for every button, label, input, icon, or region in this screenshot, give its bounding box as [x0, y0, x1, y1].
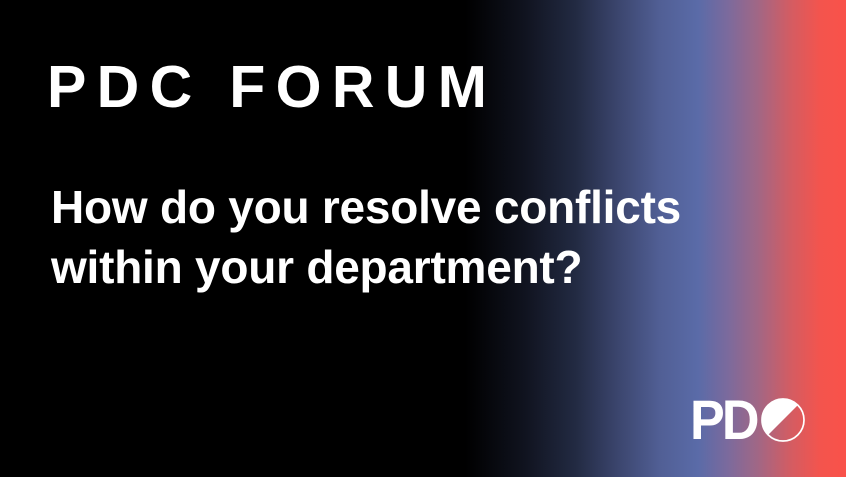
question-headline: How do you resolve conflicts within your…: [51, 178, 811, 298]
question-line-2: within your department?: [51, 238, 811, 298]
presentation-slide: PDC FORUM How do you resolve conflicts w…: [0, 0, 846, 477]
pdc-circle-diagonal-icon: [761, 398, 805, 442]
slide-content: PDC FORUM How do you resolve conflicts w…: [0, 0, 846, 477]
forum-title: PDC FORUM: [47, 58, 497, 117]
pdc-logo: PD: [690, 398, 805, 442]
logo-wordmark: PD: [690, 398, 757, 442]
question-line-1: How do you resolve conflicts: [51, 178, 811, 238]
